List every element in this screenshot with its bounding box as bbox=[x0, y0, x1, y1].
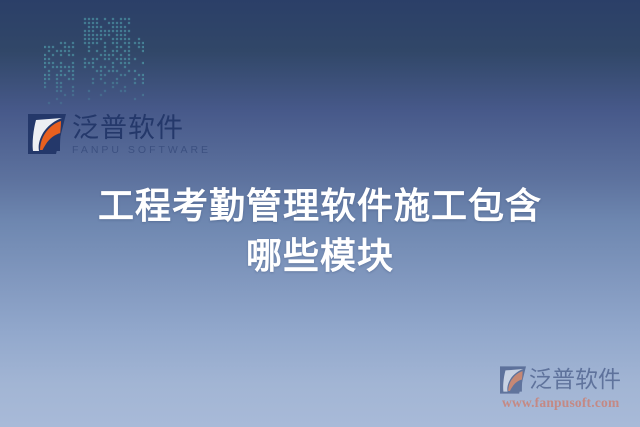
skyline-canvas bbox=[44, 16, 144, 106]
brand-logo: 泛普软件 FANPU SOFTWARE bbox=[28, 114, 211, 156]
page-title-line-2: 哪些模块 bbox=[0, 232, 640, 282]
logo-en-name: FANPU SOFTWARE bbox=[72, 144, 211, 156]
watermark-cn-name: 泛普软件 bbox=[529, 367, 621, 393]
fanpu-hexagon-mark-icon bbox=[500, 366, 526, 394]
page-title: 工程考勤管理软件施工包含 哪些模块 bbox=[0, 182, 640, 282]
logo-wordmark: 泛普软件 FANPU SOFTWARE bbox=[72, 114, 211, 156]
fanpu-hexagon-mark-icon bbox=[28, 114, 66, 154]
watermark: 泛普软件 www.fanpusoft.com bbox=[500, 366, 640, 411]
promo-banner: 泛普软件 FANPU SOFTWARE 工程考勤管理软件施工包含 哪些模块 泛普… bbox=[0, 0, 640, 427]
pixel-city-skyline-icon bbox=[44, 16, 144, 106]
logo-cn-name: 泛普软件 bbox=[72, 115, 211, 143]
page-title-line-1: 工程考勤管理软件施工包含 bbox=[0, 182, 640, 232]
watermark-url: www.fanpusoft.com bbox=[502, 395, 640, 411]
watermark-logo-row: 泛普软件 bbox=[500, 366, 640, 394]
